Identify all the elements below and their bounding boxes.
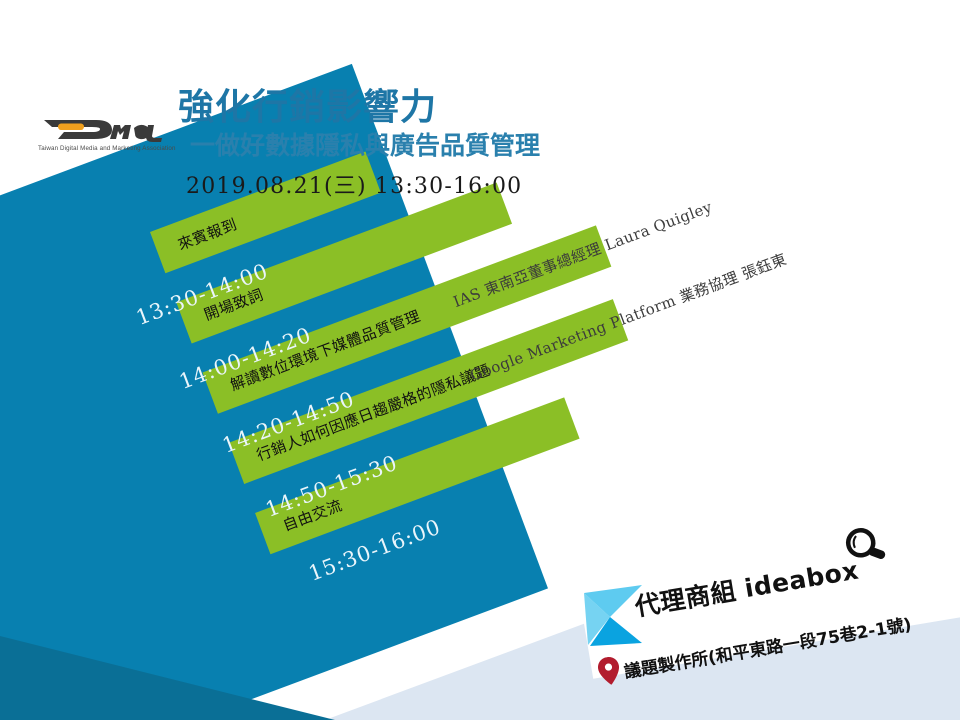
agenda-time: 14:50-15:30 <box>262 451 401 522</box>
agenda-time: 14:00-14:20 <box>176 323 315 394</box>
slide-canvas: Taiwan Digital Media and Marketing Assoc… <box>0 0 960 720</box>
location-pin-icon <box>596 655 622 686</box>
dma-logo-tagline: Taiwan Digital Media and Marketing Assoc… <box>38 145 176 152</box>
header: Taiwan Digital Media and Marketing Assoc… <box>0 0 960 215</box>
agenda-time: 15:30-16:00 <box>305 515 444 586</box>
dma-wordmark-icon <box>36 112 168 144</box>
event-datetime: 2019.08.21(三) 13:30-16:00 <box>186 168 522 200</box>
agenda-time: 14:20-14:50 <box>219 387 358 458</box>
page-subtitle: 一做好數據隱私與廣告品質管理 <box>190 126 540 162</box>
dma-logo: Taiwan Digital Media and Marketing Assoc… <box>36 112 176 160</box>
magnifier-icon <box>840 520 895 571</box>
page-title: 強化行銷影響力 <box>178 78 437 130</box>
